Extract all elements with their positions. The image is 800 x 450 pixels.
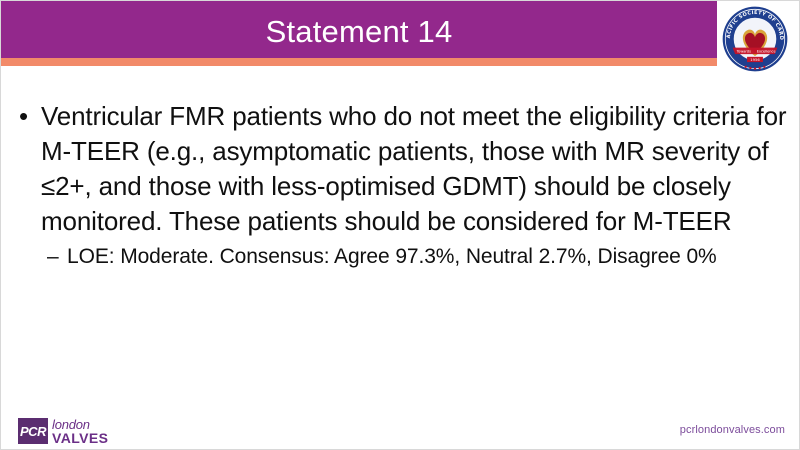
bullet-statement-text: Ventricular FMR patients who do not meet… [41, 99, 787, 239]
list-item: • Ventricular FMR patients who do not me… [19, 99, 787, 239]
pcr-badge: PCR [18, 418, 48, 444]
svg-text:Excellence: Excellence [757, 49, 776, 53]
brand-line-valves: VALVES [52, 431, 108, 445]
pcr-wordmark: london VALVES [52, 418, 108, 444]
svg-text:1956: 1956 [750, 58, 760, 62]
svg-text:Towards: Towards [736, 49, 751, 53]
list-item-sub: – LOE: Moderate. Consensus: Agree 97.3%,… [19, 241, 787, 273]
footer-url: pcrlondonvalves.com [680, 424, 785, 436]
slide-canvas: Statement 14 ASIAN PACIFIC SOCIETY OF CA… [0, 0, 800, 450]
header-accent-stripe [1, 58, 717, 66]
asian-pacific-society-of-cardiology-seal-icon: ASIAN PACIFIC SOCIETY OF CARDIOLOGY Towa… [722, 6, 788, 72]
page-title: Statement 14 [1, 9, 717, 55]
bullet-point-icon: • [19, 99, 41, 134]
pcr-london-valves-logo: PCR london VALVES [18, 418, 108, 444]
consensus-detail-text: LOE: Moderate. Consensus: Agree 97.3%, N… [67, 241, 787, 273]
slide-body: • Ventricular FMR patients who do not me… [19, 99, 787, 273]
brand-line-london: london [52, 418, 108, 431]
dash-bullet-icon: – [47, 241, 67, 273]
